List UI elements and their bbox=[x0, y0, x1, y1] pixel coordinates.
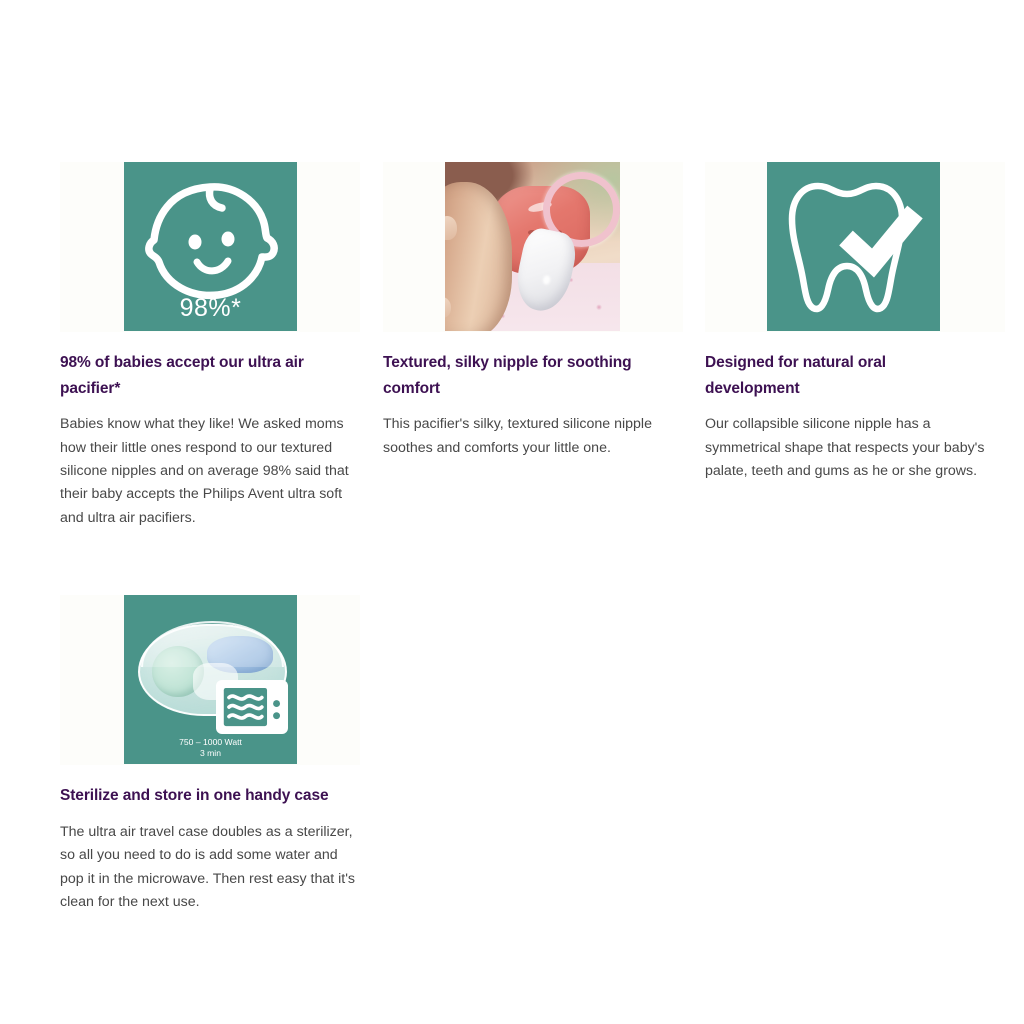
caption-duration: 3 min bbox=[124, 748, 297, 760]
microwave-icon bbox=[216, 680, 289, 734]
feature-body: This pacifier's silky, textured silicone… bbox=[383, 401, 675, 460]
media-container bbox=[705, 162, 1005, 332]
feature-block-babies-accept: 98%* 98% of babies accept our ultra air … bbox=[60, 162, 360, 530]
feature-block-sterilize-case: 750 – 1000 Watt 3 min Sterilize and stor… bbox=[60, 595, 360, 914]
feature-title: 98% of babies accept our ultra air pacif… bbox=[60, 332, 350, 401]
feature-grid: 98%* 98% of babies accept our ultra air … bbox=[60, 162, 1008, 914]
pacifier-in-hand-photo bbox=[445, 162, 620, 331]
product-feature-page: 98%* 98% of babies accept our ultra air … bbox=[0, 0, 1024, 1024]
microwave-caption: 750 – 1000 Watt 3 min bbox=[124, 737, 297, 761]
media-container: 98%* bbox=[60, 162, 360, 332]
tile-caption-98-percent: 98%* bbox=[124, 294, 297, 323]
caption-wattage: 750 – 1000 Watt bbox=[124, 737, 297, 749]
feature-body: The ultra air travel case doubles as a s… bbox=[60, 809, 360, 915]
nipple-highlight bbox=[542, 274, 550, 285]
media-container: 750 – 1000 Watt 3 min bbox=[60, 595, 360, 765]
microwave-badge bbox=[216, 680, 289, 734]
teal-tile: 98%* bbox=[124, 162, 297, 331]
feature-title: Sterilize and store in one handy case bbox=[60, 765, 360, 809]
fingernail bbox=[445, 297, 451, 317]
media-pacifier-photo bbox=[445, 162, 620, 331]
feature-title: Textured, silky nipple for soothing comf… bbox=[383, 332, 663, 401]
media-container bbox=[383, 162, 683, 332]
media-tooth-tile bbox=[767, 162, 940, 331]
feature-title: Designed for natural oral development bbox=[705, 332, 945, 401]
feature-body: Our collapsible silicone nipple has a sy… bbox=[705, 401, 1003, 483]
media-baby-face-tile: 98%* bbox=[124, 162, 297, 331]
travel-case-lid bbox=[141, 621, 283, 667]
feature-block-textured-nipple: Textured, silky nipple for soothing comf… bbox=[383, 162, 683, 460]
tooth-check-icon bbox=[767, 162, 940, 331]
fingernail bbox=[445, 216, 457, 239]
feature-row-2: 750 – 1000 Watt 3 min Sterilize and stor… bbox=[60, 595, 1008, 914]
media-sterilizer-tile: 750 – 1000 Watt 3 min bbox=[124, 595, 297, 764]
feature-row-1: 98%* 98% of babies accept our ultra air … bbox=[60, 162, 1008, 530]
teal-tile bbox=[767, 162, 940, 331]
feature-body: Babies know what they like! We asked mom… bbox=[60, 401, 360, 530]
feature-block-oral-development: Designed for natural oral development Ou… bbox=[705, 162, 1005, 483]
sterilizer-case-photo: 750 – 1000 Watt 3 min bbox=[124, 595, 297, 764]
